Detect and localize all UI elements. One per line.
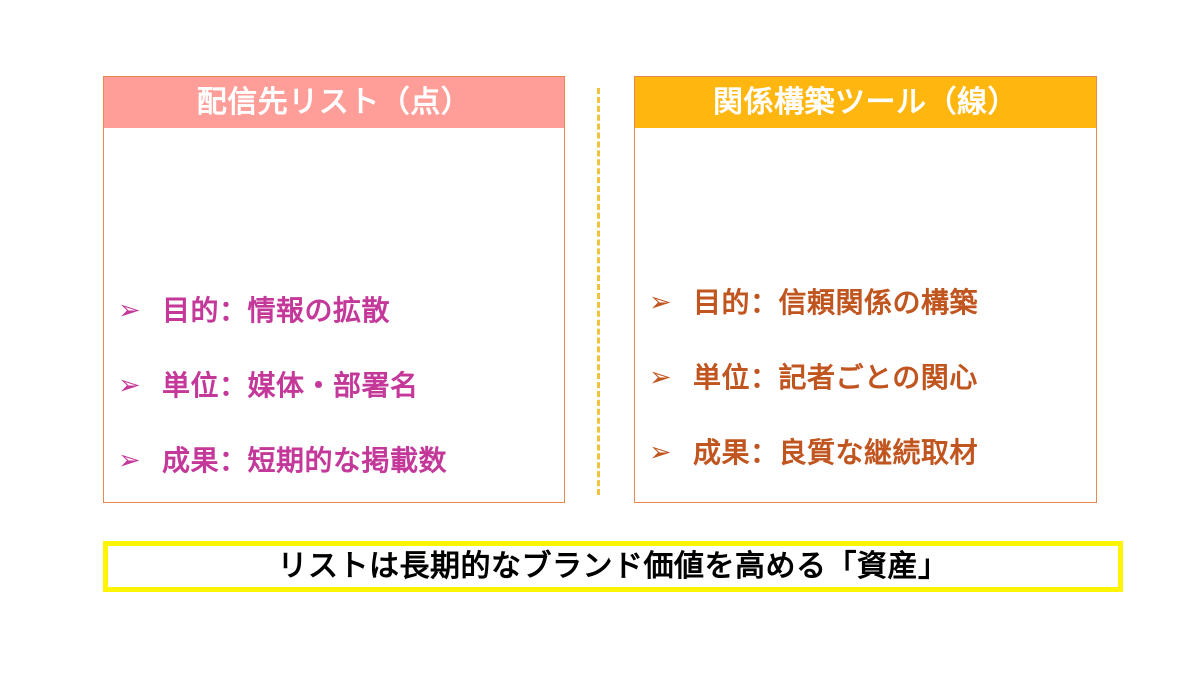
list-item: ➢ 成果：良質な継続取材 — [649, 415, 1096, 490]
bullet-list-distribution-list: ➢ 目的：情報の拡散 ➢ 単位：媒体・部署名 ➢ 成果：短期的な掲載数 — [104, 273, 564, 498]
bullet-list-relationship-building-tool: ➢ 目的：信頼関係の構築 ➢ 単位：記者ごとの関心 ➢ 成果：良質な継続取材 — [635, 265, 1096, 490]
card-header-relationship-building-tool: 関係構築ツール（線） — [635, 77, 1096, 128]
list-item: ➢ 単位：記者ごとの関心 — [649, 340, 1096, 415]
list-item-label: 単位：記者ごとの関心 — [693, 364, 978, 392]
list-item-label: 成果：短期的な掲載数 — [162, 447, 447, 475]
list-item: ➢ 成果：短期的な掲載数 — [118, 423, 564, 498]
list-item: ➢ 目的：情報の拡散 — [118, 273, 564, 348]
list-item-label: 単位：媒体・部署名 — [162, 372, 419, 400]
arrow-bullet-icon: ➢ — [649, 439, 693, 466]
arrow-bullet-icon: ➢ — [118, 372, 162, 399]
summary-banner: リストは長期的なブランド価値を高める「資産」 — [103, 541, 1123, 592]
list-item: ➢ 単位：媒体・部署名 — [118, 348, 564, 423]
arrow-bullet-icon: ➢ — [649, 364, 693, 391]
slide-canvas: 配信先リスト（点） ➢ 目的：情報の拡散 ➢ 単位：媒体・部署名 ➢ 成果：短期… — [0, 0, 1200, 675]
list-item: ➢ 目的：信頼関係の構築 — [649, 265, 1096, 340]
card-title-relationship-building-tool: 関係構築ツール（線） — [713, 88, 1018, 118]
summary-banner-text: リストは長期的なブランド価値を高める「資産」 — [278, 552, 949, 582]
arrow-bullet-icon: ➢ — [118, 297, 162, 324]
arrow-bullet-icon: ➢ — [649, 289, 693, 316]
card-header-distribution-list: 配信先リスト（点） — [104, 77, 564, 128]
card-distribution-list: 配信先リスト（点） ➢ 目的：情報の拡散 ➢ 単位：媒体・部署名 ➢ 成果：短期… — [103, 76, 565, 503]
arrow-bullet-icon: ➢ — [118, 447, 162, 474]
column-divider — [597, 88, 600, 495]
list-item-label: 目的：信頼関係の構築 — [693, 289, 978, 317]
card-relationship-building-tool: 関係構築ツール（線） ➢ 目的：信頼関係の構築 ➢ 単位：記者ごとの関心 ➢ 成… — [634, 76, 1097, 503]
list-item-label: 目的：情報の拡散 — [162, 297, 390, 325]
list-item-label: 成果：良質な継続取材 — [693, 439, 978, 467]
card-title-distribution-list: 配信先リスト（点） — [197, 88, 472, 118]
